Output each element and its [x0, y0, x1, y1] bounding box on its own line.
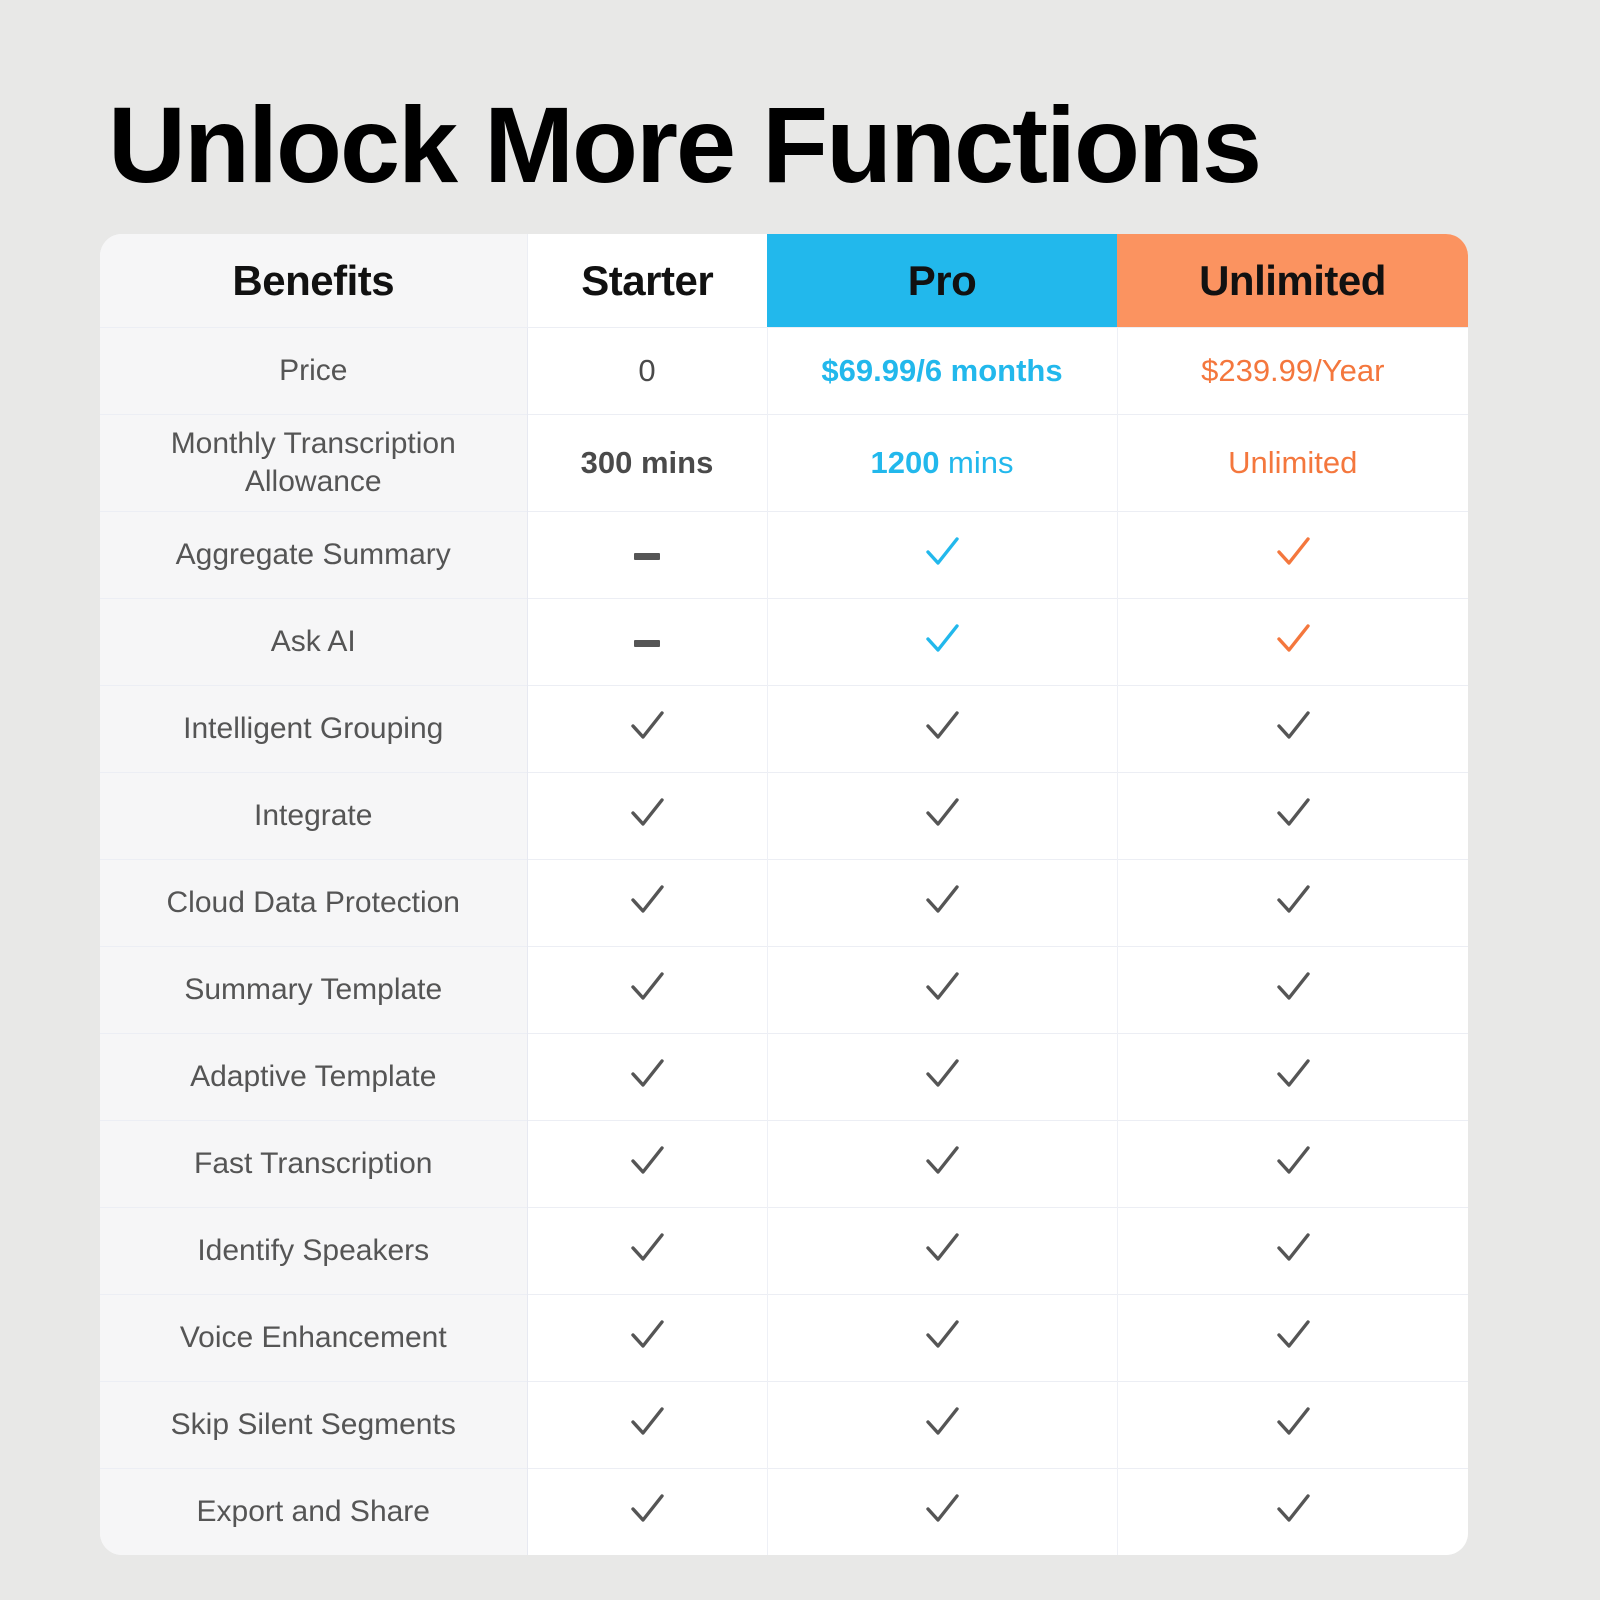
check-icon	[624, 1398, 670, 1444]
check-icon	[1270, 1224, 1316, 1270]
check-icon	[1270, 615, 1316, 661]
cell-starter	[527, 773, 767, 860]
cell-value: $239.99/Year	[1201, 353, 1384, 388]
cell-unlimited: Unlimited	[1117, 415, 1468, 512]
cell-pro	[767, 1295, 1117, 1382]
feature-label: Aggregate Summary	[100, 512, 527, 599]
cell-unlimited	[1117, 1121, 1468, 1208]
feature-label: Skip Silent Segments	[100, 1382, 527, 1469]
check-icon	[624, 1050, 670, 1096]
feature-label: Fast Transcription	[100, 1121, 527, 1208]
cell-pro	[767, 512, 1117, 599]
check-icon	[624, 963, 670, 1009]
check-icon	[1270, 528, 1316, 574]
cell-unlimited	[1117, 1034, 1468, 1121]
check-icon	[919, 1311, 965, 1357]
cell-unlimited	[1117, 860, 1468, 947]
check-icon	[1270, 789, 1316, 835]
pricing-comparison-page: Unlock More Functions Benefits Starter P…	[0, 0, 1600, 1600]
check-icon	[919, 1485, 965, 1531]
table-header: Benefits Starter Pro Unlimited	[100, 234, 1468, 328]
check-icon	[1270, 1311, 1316, 1357]
cell-starter: 0	[527, 328, 767, 415]
cell-value-rest: mins	[939, 445, 1013, 480]
cell-pro	[767, 686, 1117, 773]
check-icon	[919, 1224, 965, 1270]
cell-pro	[767, 947, 1117, 1034]
cell-pro	[767, 1208, 1117, 1295]
feature-label: Adaptive Template	[100, 1034, 527, 1121]
table-row: Intelligent Grouping	[100, 686, 1468, 773]
check-icon	[919, 876, 965, 922]
cell-unlimited	[1117, 1208, 1468, 1295]
feature-label: Monthly Transcription Allowance	[100, 415, 527, 512]
feature-label: Price	[100, 328, 527, 415]
cell-starter	[527, 599, 767, 686]
check-icon	[624, 1224, 670, 1270]
check-icon	[624, 1311, 670, 1357]
table-row: Price0$69.99/6 months$239.99/Year	[100, 328, 1468, 415]
table-row: Adaptive Template	[100, 1034, 1468, 1121]
table-row: Voice Enhancement	[100, 1295, 1468, 1382]
cell-starter	[527, 512, 767, 599]
table-body: Price0$69.99/6 months$239.99/YearMonthly…	[100, 328, 1468, 1556]
cell-value: Unlimited	[1228, 445, 1357, 480]
table-row: Ask AI	[100, 599, 1468, 686]
check-icon	[919, 702, 965, 748]
check-icon	[1270, 1485, 1316, 1531]
plan-comparison-table: Benefits Starter Pro Unlimited Price0$69…	[100, 234, 1468, 1555]
cell-pro	[767, 1121, 1117, 1208]
cell-unlimited	[1117, 1469, 1468, 1556]
cell-unlimited	[1117, 599, 1468, 686]
cell-starter	[527, 686, 767, 773]
table-row: Fast Transcription	[100, 1121, 1468, 1208]
check-icon	[1270, 876, 1316, 922]
cell-starter	[527, 1121, 767, 1208]
table-row: Cloud Data Protection	[100, 860, 1468, 947]
check-icon	[919, 1137, 965, 1183]
cell-pro	[767, 599, 1117, 686]
cell-unlimited: $239.99/Year	[1117, 328, 1468, 415]
feature-label: Voice Enhancement	[100, 1295, 527, 1382]
cell-value-emphasis: 1200	[870, 445, 939, 480]
check-icon	[919, 1398, 965, 1444]
table-row: Integrate	[100, 773, 1468, 860]
feature-label: Summary Template	[100, 947, 527, 1034]
feature-label: Cloud Data Protection	[100, 860, 527, 947]
cell-pro: $69.99/6 months	[767, 328, 1117, 415]
cell-starter	[527, 1382, 767, 1469]
cell-starter	[527, 947, 767, 1034]
table-row: Export and Share	[100, 1469, 1468, 1556]
feature-label: Integrate	[100, 773, 527, 860]
cell-starter	[527, 1034, 767, 1121]
check-icon	[624, 789, 670, 835]
not-included-dash	[634, 640, 660, 647]
check-icon	[919, 789, 965, 835]
check-icon	[1270, 963, 1316, 1009]
cell-unlimited	[1117, 1295, 1468, 1382]
check-icon	[1270, 1137, 1316, 1183]
cell-pro: 1200 mins	[767, 415, 1117, 512]
cell-unlimited	[1117, 773, 1468, 860]
page-title: Unlock More Functions	[108, 80, 1508, 210]
check-icon	[624, 1137, 670, 1183]
cell-starter: 300 mins	[527, 415, 767, 512]
table-row: Aggregate Summary	[100, 512, 1468, 599]
cell-pro	[767, 1469, 1117, 1556]
check-icon	[919, 528, 965, 574]
table-row: Skip Silent Segments	[100, 1382, 1468, 1469]
check-icon	[624, 702, 670, 748]
cell-pro	[767, 1034, 1117, 1121]
feature-label: Identify Speakers	[100, 1208, 527, 1295]
check-icon	[1270, 1050, 1316, 1096]
cell-pro	[767, 773, 1117, 860]
cell-value: 300 mins	[581, 445, 714, 480]
table-row: Summary Template	[100, 947, 1468, 1034]
cell-unlimited	[1117, 947, 1468, 1034]
header-row: Benefits Starter Pro Unlimited	[100, 234, 1468, 328]
check-icon	[919, 963, 965, 1009]
not-included-dash	[634, 553, 660, 560]
cell-value: $69.99/6 months	[821, 353, 1062, 388]
cell-starter	[527, 860, 767, 947]
feature-label: Export and Share	[100, 1469, 527, 1556]
cell-value: 0	[638, 353, 655, 388]
table-row: Monthly Transcription Allowance300 mins1…	[100, 415, 1468, 512]
cell-starter	[527, 1469, 767, 1556]
column-header-benefits: Benefits	[100, 234, 527, 328]
check-icon	[919, 615, 965, 661]
check-icon	[919, 1050, 965, 1096]
cell-pro	[767, 1382, 1117, 1469]
check-icon	[1270, 702, 1316, 748]
table-row: Identify Speakers	[100, 1208, 1468, 1295]
check-icon	[624, 876, 670, 922]
cell-unlimited	[1117, 686, 1468, 773]
cell-unlimited	[1117, 512, 1468, 599]
column-header-unlimited[interactable]: Unlimited	[1117, 234, 1468, 328]
cell-starter	[527, 1295, 767, 1382]
check-icon	[624, 1485, 670, 1531]
cell-pro	[767, 860, 1117, 947]
plan-comparison-table-wrapper: Benefits Starter Pro Unlimited Price0$69…	[100, 234, 1468, 1555]
column-header-pro[interactable]: Pro	[767, 234, 1117, 328]
cell-unlimited	[1117, 1382, 1468, 1469]
feature-label: Ask AI	[100, 599, 527, 686]
check-icon	[1270, 1398, 1316, 1444]
cell-starter	[527, 1208, 767, 1295]
feature-label: Intelligent Grouping	[100, 686, 527, 773]
column-header-starter[interactable]: Starter	[527, 234, 767, 328]
